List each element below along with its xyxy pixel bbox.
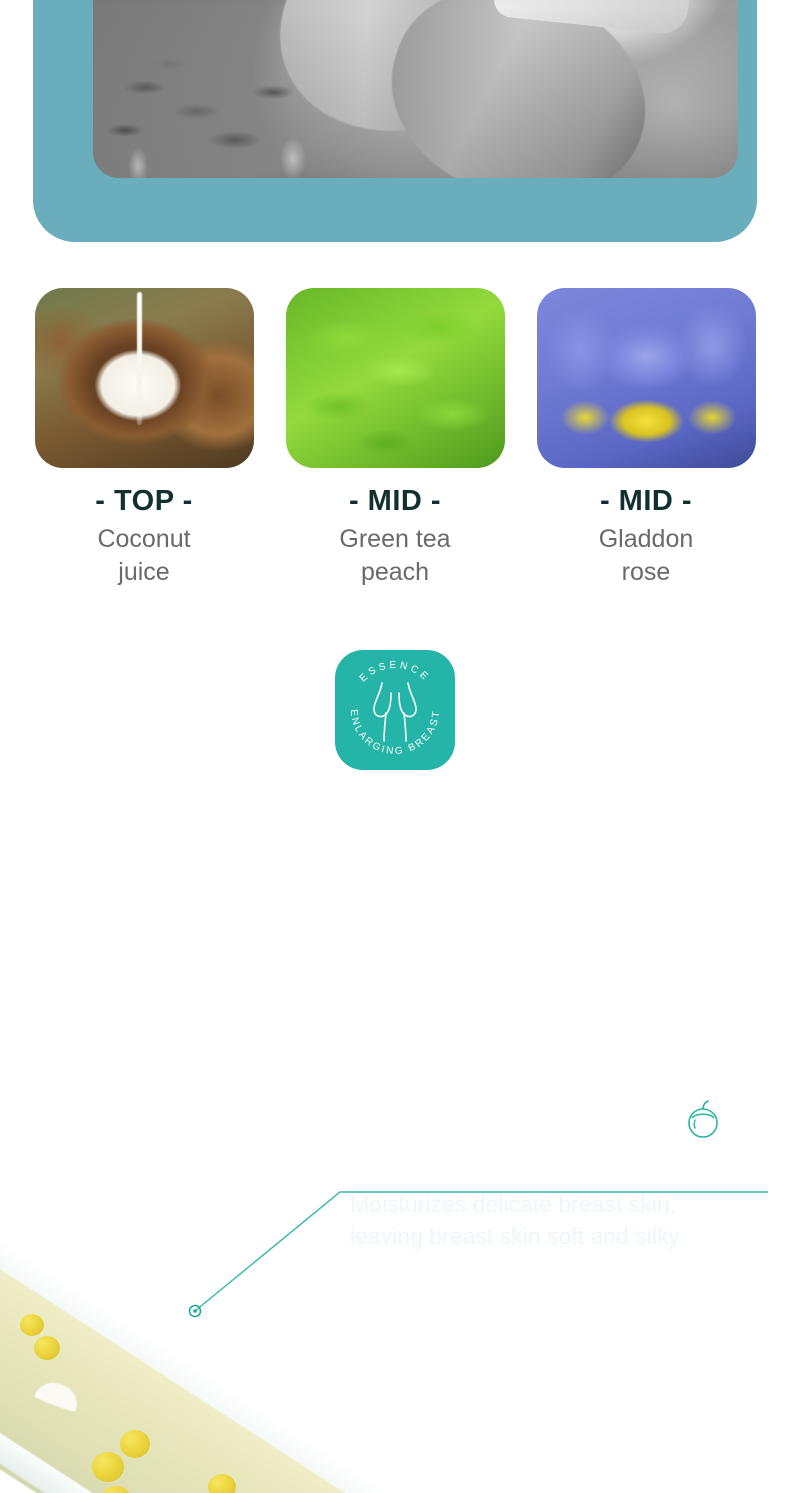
callout-body-line-2: leaving breast skin soft and silky bbox=[350, 1221, 750, 1253]
page-title: ACTIVE INGREDIENTS bbox=[24, 898, 767, 964]
ingredient-name-label: Coconut juice bbox=[35, 523, 254, 589]
sub-label-inner: ELARGER / SHAPE bbox=[307, 1014, 483, 1038]
coconut-photo bbox=[35, 288, 254, 468]
serum-bubble bbox=[100, 1486, 132, 1493]
product-detail-page: - TOP - Coconut juice - MID - Green tea … bbox=[0, 0, 790, 1493]
hero-photo-overlay bbox=[93, 0, 738, 178]
sub-label-row: ELARGER / SHAPE bbox=[0, 1014, 790, 1038]
ingredient-list: - TOP - Coconut juice - MID - Green tea … bbox=[0, 288, 790, 589]
sub-label-left: ELARGER bbox=[307, 1014, 379, 1029]
serum-band-pale-green bbox=[0, 1470, 548, 1493]
sub-label-right: SHAPE bbox=[432, 1014, 483, 1029]
ingredient-name-label: Green tea peach bbox=[286, 523, 505, 589]
callout-body-line-1: Moisturizes delicate breast skin, bbox=[350, 1189, 750, 1221]
serum-bubble bbox=[92, 1452, 124, 1482]
eyebrow-tagline: MAKE BREASTS BIGGER bbox=[335, 851, 609, 877]
serum-bubble bbox=[20, 1314, 44, 1336]
brand-logo-badge[interactable]: ESSENCE ENLARGING BREAST bbox=[335, 650, 455, 770]
eyebrow-row: ELARGER MAKE BREASTS BIGGER bbox=[0, 845, 790, 882]
serum-bubble bbox=[120, 1430, 150, 1458]
ingredient-card-green-tea[interactable]: - MID - Green tea peach bbox=[286, 288, 505, 589]
eyebrow-pill-label: ELARGER bbox=[181, 845, 322, 882]
serum-band-pale-blue bbox=[0, 1418, 551, 1493]
hero-photo-shading-2 bbox=[93, 0, 738, 178]
green-tea-leaves-photo bbox=[286, 288, 505, 468]
bust-outline-icon bbox=[360, 679, 430, 745]
ingredient-tier-label: - TOP - bbox=[35, 485, 254, 518]
iris-flower-photo bbox=[537, 288, 756, 468]
coconut-outline-icon bbox=[680, 1096, 726, 1142]
callout-body: Moisturizes delicate breast skin, leavin… bbox=[350, 1189, 750, 1252]
serum-flake bbox=[34, 1377, 83, 1413]
serum-band-white-bottom bbox=[0, 1368, 604, 1493]
ingredient-card-gladdon-rose[interactable]: - MID - Gladdon rose bbox=[537, 288, 756, 589]
ingredient-card-coconut[interactable]: - TOP - Coconut juice bbox=[35, 288, 254, 589]
ingredient-tier-label: - MID - bbox=[286, 485, 505, 518]
ingredient-name-label: Gladdon rose bbox=[537, 523, 756, 589]
serum-bubble bbox=[34, 1336, 60, 1360]
hero-card-overlay bbox=[33, 0, 757, 242]
callout-block: XANTHANGUM AND COCONUT FRUIT EXTRACT Moi… bbox=[350, 1098, 750, 1253]
ingredient-tier-label: - MID - bbox=[537, 485, 756, 518]
sub-label-divider: / bbox=[403, 1014, 408, 1029]
serum-bubble bbox=[208, 1474, 236, 1493]
